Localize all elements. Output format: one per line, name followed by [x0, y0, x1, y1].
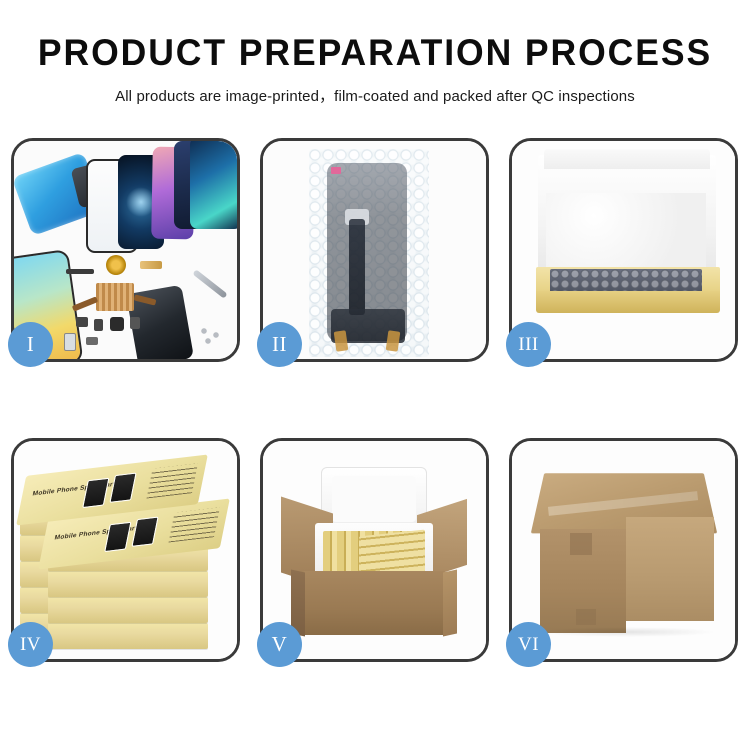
- flex-cable-left: [72, 296, 98, 311]
- step-5-image: [263, 441, 486, 659]
- box-phone-image: [131, 517, 158, 547]
- step-badge-4: IV: [8, 622, 53, 667]
- box-phone-image: [104, 522, 131, 552]
- gold-connector: [140, 261, 162, 269]
- lcd-flex-cable: [349, 219, 365, 315]
- small-part-6: [86, 337, 98, 345]
- step-6-image: [512, 441, 735, 659]
- yellow-box-front: [536, 291, 720, 313]
- carton-right-face: [626, 517, 714, 621]
- process-step-3[interactable]: III: [509, 138, 738, 362]
- step-badge-1: I: [8, 322, 53, 367]
- parts-assortment-illustration: [14, 141, 237, 359]
- step-badge-5: V: [257, 622, 302, 667]
- box-slab: [48, 623, 208, 649]
- header: PRODUCT PREPARATION PROCESS All products…: [0, 0, 750, 106]
- box-slab: [48, 597, 208, 623]
- process-step-4[interactable]: Mobile Phone Spare Parts Mobile Phone Sp…: [11, 438, 240, 662]
- small-part-3: [110, 317, 124, 331]
- screwdriver-icon: [192, 269, 227, 298]
- small-part-2: [94, 319, 103, 331]
- box-phone-image: [82, 478, 109, 508]
- step-badge-6: VI: [506, 622, 551, 667]
- sealed-carton-illustration: [512, 441, 735, 659]
- process-step-1[interactable]: I: [11, 138, 240, 362]
- carton-shadow: [536, 627, 716, 637]
- copper-coil: [106, 255, 126, 275]
- small-part-4: [130, 317, 140, 329]
- carton-handle-tab: [570, 533, 592, 555]
- box-phone-image: [109, 473, 136, 503]
- page-title: PRODUCT PREPARATION PROCESS: [15, 34, 735, 73]
- step-4-image: Mobile Phone Spare Parts Mobile Phone Sp…: [14, 441, 237, 659]
- process-step-grid: I II: [11, 138, 739, 662]
- step-badge-3: III: [506, 322, 551, 367]
- step-2-image: [263, 141, 486, 359]
- stacked-boxes-illustration: Mobile Phone Spare Parts Mobile Phone Sp…: [14, 441, 237, 659]
- carton-with-foam-illustration: [263, 441, 486, 659]
- gold-contact-left: [334, 330, 349, 351]
- page-subtitle: All products are image-printed，film-coat…: [6, 84, 745, 106]
- carton-body: [303, 571, 445, 635]
- pink-qc-sticker: [331, 167, 341, 174]
- bubble-wrap-bag: [309, 149, 429, 357]
- foam-sheet: [546, 193, 706, 269]
- chip-array: [96, 283, 134, 311]
- box-spec-lines: [169, 507, 220, 542]
- sim-tray: [64, 333, 76, 351]
- bubble-wrapped-screen-illustration: [263, 141, 486, 359]
- process-step-5[interactable]: V: [260, 438, 489, 662]
- gold-contact-right: [386, 330, 401, 351]
- box-spec-lines: [147, 463, 198, 498]
- box-slab: [48, 571, 208, 597]
- screws-icon: [200, 327, 226, 345]
- process-step-6[interactable]: VI: [509, 438, 738, 662]
- step-3-image: [512, 141, 735, 359]
- small-part-1: [76, 317, 88, 327]
- process-step-2[interactable]: II: [260, 138, 489, 362]
- speaker-strip: [66, 269, 94, 274]
- open-retail-box-illustration: [512, 141, 735, 359]
- step-1-image: [14, 141, 237, 359]
- step-badge-2: II: [257, 322, 302, 367]
- phone-screen-teal: [190, 141, 237, 229]
- carton-handle-tab: [576, 609, 596, 625]
- box-stack: Mobile Phone Spare Parts Mobile Phone Sp…: [18, 463, 234, 649]
